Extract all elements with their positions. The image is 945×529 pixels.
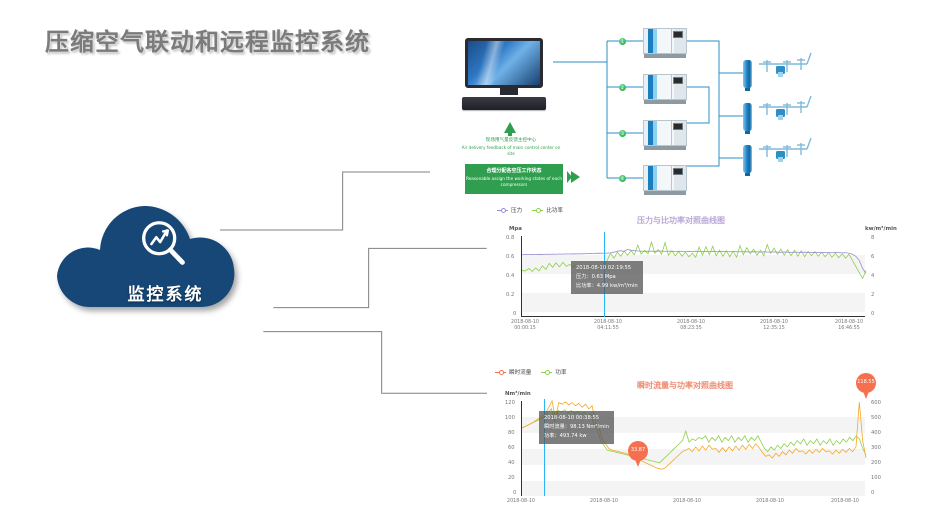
- chart2-ytick: 120: [505, 400, 515, 406]
- chart1-legend[interactable]: 压力 比功率: [497, 206, 563, 214]
- xtick-time: 08:23:35: [663, 326, 719, 332]
- chart2-y2tick: 100: [871, 475, 881, 481]
- pipe-assembly: [757, 50, 813, 82]
- chart1-y2tick: 4: [871, 273, 874, 279]
- chart1-ytick: 0.8: [506, 235, 514, 241]
- legend-label: 功率: [555, 368, 566, 376]
- chart1-tooltip: 2018-08-10 02:19:55 压力：0.63 Mpa 比功率：4.99…: [571, 261, 643, 294]
- cloud-label: 监控系统: [38, 280, 293, 305]
- chart2-y2tick: 400: [871, 430, 881, 436]
- status-node[interactable]: 2: [619, 84, 626, 91]
- chart2-ytick: 100: [505, 415, 515, 421]
- monitoring-cloud[interactable]: 监控系统: [38, 196, 293, 336]
- compressor-base: [644, 100, 686, 104]
- pipe-assembly: [757, 135, 813, 167]
- chart1-y2-axis-unit: kw/m³/min: [865, 226, 897, 232]
- pin-label: 118.55: [856, 379, 876, 385]
- xtick-date: 2018-08-10: [659, 499, 715, 505]
- legend-marker-icon: [532, 208, 543, 213]
- air-tank: [743, 103, 752, 131]
- xtick-date: 2018-08-10: [576, 499, 632, 505]
- pin-label: 33.87: [628, 447, 648, 453]
- compressor-seam: [671, 28, 672, 54]
- chart2-ytick: 40: [508, 460, 515, 466]
- legend-marker-icon: [541, 370, 552, 375]
- chart2-xtick: 2018-08-10: [576, 499, 632, 505]
- legend-label: 瞬时流量: [509, 368, 531, 376]
- chart1-ytick: 0.2: [506, 292, 514, 298]
- xtick-time: 12:35:15: [746, 326, 802, 332]
- chart1-y2tick: 8: [871, 235, 874, 241]
- chart1-y2tick: 0: [871, 311, 874, 317]
- chart1-ytick: 0.4: [506, 273, 514, 279]
- chart1-y-axis-unit: Mpa: [509, 226, 522, 232]
- status-node-label: 4: [619, 175, 626, 182]
- tooltip-line: 功率：493.74 kw: [544, 432, 609, 441]
- air-tank: [743, 145, 752, 173]
- legend-item-power[interactable]: 功率: [541, 368, 566, 376]
- diagram-piping: [447, 18, 939, 203]
- status-node[interactable]: 3: [619, 130, 626, 137]
- chart2-xtick: 2018-08-10: [742, 499, 798, 505]
- xtick-date: 2018-08-10: [742, 499, 798, 505]
- flow-power-chart[interactable]: 瞬时流量 功率 瞬时流量与功率对照曲线图 Nm³/min 120 100 80 …: [487, 365, 939, 525]
- chart2-y2tick: 300: [871, 445, 881, 451]
- tooltip-timestamp: 2018-08-10 02:19:55: [576, 264, 638, 273]
- chart1-xtick: 2018-08-10 04:11:55: [580, 320, 636, 333]
- chart1-y2tick: 6: [871, 254, 874, 260]
- chart2-y-axis-unit: Nm³/min: [505, 391, 531, 397]
- page-title: 压缩空气联动和远程监控系统: [45, 22, 370, 57]
- chart2-xtick: 2018-08-10: [659, 499, 715, 505]
- tooltip-line: 瞬时流量：98.13 Nm³/min: [544, 423, 609, 432]
- compressor-panel: [673, 31, 683, 38]
- chart2-marker-pin[interactable]: 33.87: [628, 441, 648, 467]
- chart2-xtick: 2018-08-10: [493, 499, 549, 505]
- chart-magnifier-icon: [134, 214, 196, 276]
- chart2-xtick: 2018-08-10: [817, 499, 873, 505]
- tooltip-line: 比功率：4.99 kw/m³/min: [576, 282, 638, 291]
- chart2-y2tick: 600: [871, 400, 881, 406]
- status-node[interactable]: 1: [619, 38, 626, 45]
- compressor-unit: [643, 74, 687, 104]
- slide-canvas: 压缩空气联动和远程监控系统 监控系统: [0, 0, 945, 529]
- chart2-legend[interactable]: 瞬时流量 功率: [495, 368, 567, 376]
- chart1-xtick: 2018-08-10 16:46:55: [821, 320, 877, 333]
- chart2-ytick: 20: [508, 475, 515, 481]
- compressor-panel: [673, 168, 683, 175]
- chart2-marker-pin[interactable]: 118.55: [856, 373, 876, 399]
- status-node[interactable]: 4: [619, 175, 626, 182]
- chart1-xtick: 2018-08-10 08:23:35: [663, 320, 719, 333]
- legend-item-pressure[interactable]: 压力: [497, 206, 522, 214]
- status-node-label: 3: [619, 130, 626, 137]
- compressor-base: [644, 191, 686, 195]
- compressor-base: [644, 54, 686, 58]
- status-node-label: 1: [619, 38, 626, 45]
- compressor-unit: [643, 28, 687, 58]
- chart2-ytick: 0: [513, 490, 516, 496]
- pipe-assembly: [757, 93, 813, 125]
- pressure-power-chart[interactable]: 压力 比功率 压力与比功率对照曲线图 Mpa kw/m³/min 0.8 0.6…: [487, 203, 939, 331]
- legend-item-flow[interactable]: 瞬时流量: [495, 368, 531, 376]
- chart2-tooltip: 2018-08-10 00:38:55 瞬时流量：98.13 Nm³/min 功…: [539, 411, 614, 444]
- compressor-panel: [673, 77, 683, 84]
- compressor-unit: [643, 120, 687, 150]
- compressor-seam: [671, 165, 672, 191]
- compressor-base: [644, 146, 686, 150]
- chart2-y2tick: 500: [871, 415, 881, 421]
- legend-label: 比功率: [546, 206, 563, 214]
- chart2-title: 瞬时流量与功率对照曲线图: [637, 380, 733, 391]
- xtick-time: 16:46:55: [821, 326, 877, 332]
- tooltip-line: 压力：0.63 Mpa: [576, 273, 638, 282]
- compressor-seam: [671, 74, 672, 100]
- chart1-y2tick: 2: [871, 292, 874, 298]
- chart1-xtick: 2018-08-10 00:00:15: [497, 320, 553, 333]
- legend-marker-icon: [495, 370, 506, 375]
- status-node-label: 2: [619, 84, 626, 91]
- system-diagram: 现场用气量反馈主控中心 Air delivery feedback of mai…: [447, 18, 939, 203]
- air-tank: [743, 60, 752, 88]
- chart1-title: 压力与比功率对照曲线图: [637, 215, 725, 226]
- legend-label: 压力: [511, 206, 522, 214]
- compressor-unit: [643, 165, 687, 195]
- chart2-ytick: 80: [508, 430, 515, 436]
- xtick-date: 2018-08-10: [493, 499, 549, 505]
- xtick-time: 00:00:15: [497, 326, 553, 332]
- chart1-ytick: 0.6: [506, 254, 514, 260]
- chart1-ytick: 0: [513, 311, 516, 317]
- xtick-time: 04:11:55: [580, 326, 636, 332]
- xtick-date: 2018-08-10: [817, 499, 873, 505]
- chart1-xtick: 2018-08-10 12:35:15: [746, 320, 802, 333]
- compressor-panel: [673, 123, 683, 130]
- legend-item-specific-power[interactable]: 比功率: [532, 206, 563, 214]
- legend-marker-icon: [497, 208, 508, 213]
- compressor-seam: [671, 120, 672, 146]
- chart2-y2tick: 0: [871, 490, 874, 496]
- chart2-y2tick: 200: [871, 460, 881, 466]
- chart2-ytick: 60: [508, 445, 515, 451]
- tooltip-timestamp: 2018-08-10 00:38:55: [544, 414, 609, 423]
